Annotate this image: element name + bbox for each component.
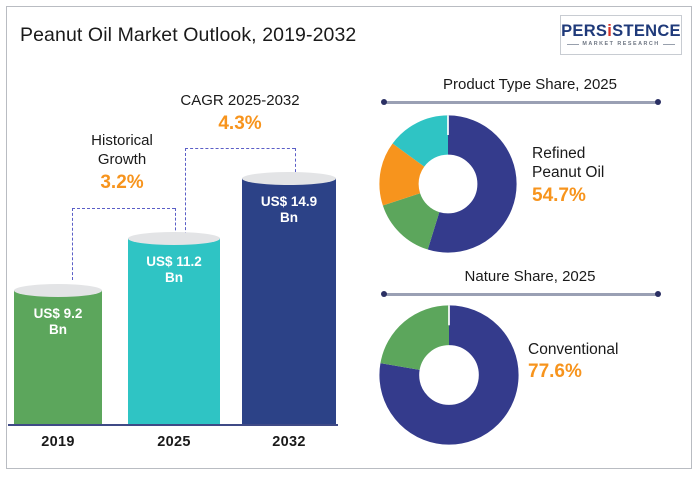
brand-logo: PERSiSTENCE MARKET RESEARCH (560, 15, 682, 55)
nature-donut-svg (378, 304, 520, 446)
product-type-legend-value: 54.7% (532, 185, 682, 207)
product-type-donut-svg (378, 114, 518, 254)
nature-legend-line1: Conventional (528, 340, 688, 359)
product-type-legend-line2: Peanut Oil (532, 163, 682, 182)
historical-label-line2: Growth (62, 151, 182, 170)
logo-rule-left (567, 44, 579, 45)
nature-legend-value: 77.6% (528, 361, 688, 383)
nature-share-divider (382, 293, 660, 296)
nature-legend: Conventional 77.6% (528, 340, 688, 383)
logo-part1: PERS (561, 22, 607, 40)
bar-2025-value: US$ 11.2 Bn (128, 254, 220, 286)
product-type-share-section: Product Type Share, 2025 Refined Peanut … (370, 70, 690, 260)
product-type-share-title: Product Type Share, 2025 (370, 76, 690, 93)
product-type-legend-line1: Refined (532, 144, 682, 163)
page-title: Peanut Oil Market Outlook, 2019-2032 (20, 24, 356, 47)
bar-2019-value-unit: Bn (49, 322, 67, 337)
bar-2019-cap (14, 284, 102, 297)
bar-2025-cap (128, 232, 220, 245)
logo-rule-right (663, 44, 675, 45)
bar-2019: US$ 9.2 Bn 2019 (14, 284, 102, 424)
bar-2025-value-amount: US$ 11.2 (146, 254, 202, 269)
historical-label-line1: Historical (62, 132, 182, 151)
bar-2032-value: US$ 14.9 Bn (242, 194, 336, 226)
cagr-value: 4.3% (170, 113, 310, 135)
logo-wordmark: PERSiSTENCE (561, 23, 681, 40)
infographic-root: Peanut Oil Market Outlook, 2019-2032 PER… (0, 0, 700, 477)
nature-donut (378, 304, 520, 446)
bar-chart: CAGR 2025-2032 4.3% Historical Growth 3.… (0, 60, 360, 460)
bar-2025-year: 2025 (108, 434, 240, 450)
logo-tagline-row: MARKET RESEARCH (567, 42, 674, 47)
historical-value: 3.2% (62, 172, 182, 194)
bar-2019-value-amount: US$ 9.2 (34, 306, 83, 321)
bar-2032: US$ 14.9 Bn 2032 (242, 172, 336, 424)
bar-chart-axis (8, 424, 338, 426)
product-type-share-divider (382, 101, 660, 104)
bar-2032-value-amount: US$ 14.9 (261, 194, 317, 209)
bar-2025-value-unit: Bn (165, 270, 183, 285)
product-type-donut (378, 114, 518, 254)
callout-cagr: CAGR 2025-2032 4.3% (170, 92, 310, 135)
nature-share-section: Nature Share, 2025 Conventional 77.6% (370, 262, 690, 452)
cagr-label: CAGR 2025-2032 (170, 92, 310, 111)
bar-2032-year: 2032 (222, 434, 356, 450)
product-type-legend: Refined Peanut Oil 54.7% (532, 144, 682, 207)
bar-2032-cap (242, 172, 336, 185)
logo-part2: STENCE (612, 22, 681, 40)
nature-share-title: Nature Share, 2025 (370, 268, 690, 285)
bar-2032-value-unit: Bn (280, 210, 298, 225)
callout-historical: Historical Growth 3.2% (62, 132, 182, 194)
bar-2019-value: US$ 9.2 Bn (14, 306, 102, 338)
bar-2025: US$ 11.2 Bn 2025 (128, 232, 220, 424)
logo-tagline: MARKET RESEARCH (582, 42, 659, 47)
bar-2019-year: 2019 (0, 434, 122, 450)
